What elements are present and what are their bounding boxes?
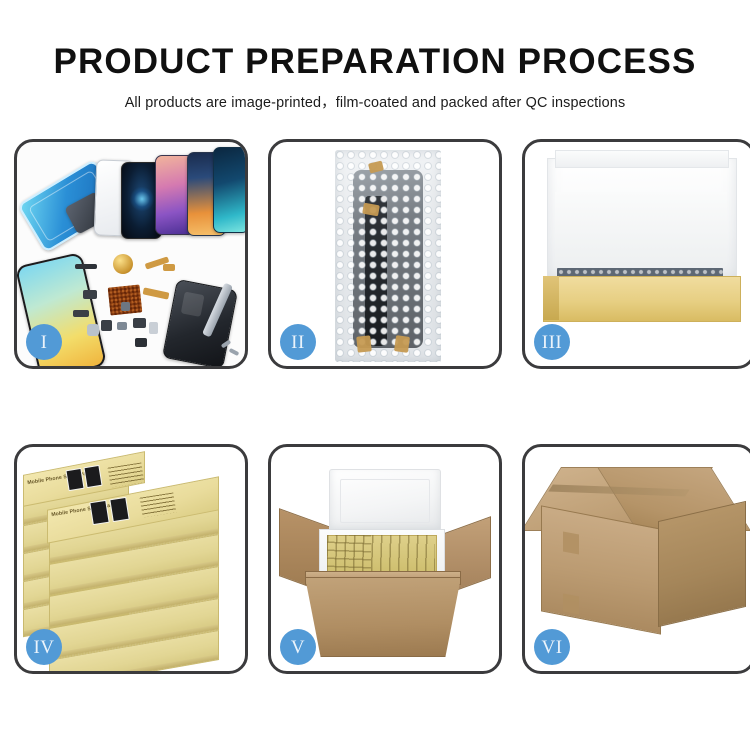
tape-icon — [563, 531, 579, 554]
step-badge-2: II — [280, 324, 316, 360]
component-icon — [121, 302, 130, 311]
component-icon — [149, 322, 158, 334]
component-icon — [117, 322, 127, 330]
step-badge-4: IV — [26, 629, 62, 665]
sim-tray-icon — [87, 324, 99, 336]
teal-phone-icon — [213, 147, 245, 233]
step-panel-1: I — [14, 139, 248, 369]
tape-icon — [563, 593, 579, 614]
carton-front-face — [541, 505, 661, 634]
box-lid-top-edge — [555, 150, 729, 168]
step-panel-3: III — [522, 139, 750, 369]
component-icon — [163, 264, 175, 271]
screen-print-icon — [109, 497, 129, 522]
component-icon — [133, 318, 146, 328]
process-step-grid: I II — [14, 139, 736, 684]
bubble-texture — [335, 150, 441, 362]
page-subtitle: All products are image-printed，film-coat… — [0, 91, 750, 112]
tape-icon — [356, 335, 372, 352]
screen-print-icon — [89, 500, 109, 525]
step-badge-1: I — [26, 324, 62, 360]
antenna-strip-icon — [75, 264, 97, 269]
product-preparation-infographic: PRODUCT PREPARATION PROCESS All products… — [0, 0, 750, 750]
header: PRODUCT PREPARATION PROCESS All products… — [0, 0, 750, 112]
page-title: PRODUCT PREPARATION PROCESS — [0, 44, 750, 81]
component-icon — [73, 310, 89, 317]
step-badge-6: VI — [534, 629, 570, 665]
screw-icon — [229, 348, 240, 356]
component-icon — [101, 320, 112, 331]
carton-side-face — [658, 501, 746, 627]
step-panel-2: II — [268, 139, 502, 369]
screen-print-icon — [65, 468, 84, 491]
carton-body — [305, 577, 461, 657]
speaker-module-icon — [113, 254, 133, 274]
component-icon — [83, 290, 97, 299]
step-panel-6: VI — [522, 444, 750, 674]
flex-cable-icon — [143, 287, 170, 299]
step-panel-5: V — [268, 444, 502, 674]
step-panel-4: Mobile Phone Spare Parts Mobile Phone Sp… — [14, 444, 248, 674]
foam-lid — [329, 469, 441, 533]
step-badge-5: V — [280, 629, 316, 665]
component-icon — [135, 338, 147, 347]
kraft-box-tray-side — [543, 276, 559, 320]
kraft-box-tray — [543, 276, 741, 322]
foam-liner — [555, 192, 727, 266]
packed-boxes-texture — [327, 535, 371, 575]
bubble-wrap-bag — [335, 150, 441, 362]
screen-print-icon — [83, 465, 102, 488]
step-badge-3: III — [534, 324, 570, 360]
tape-icon — [394, 335, 410, 353]
